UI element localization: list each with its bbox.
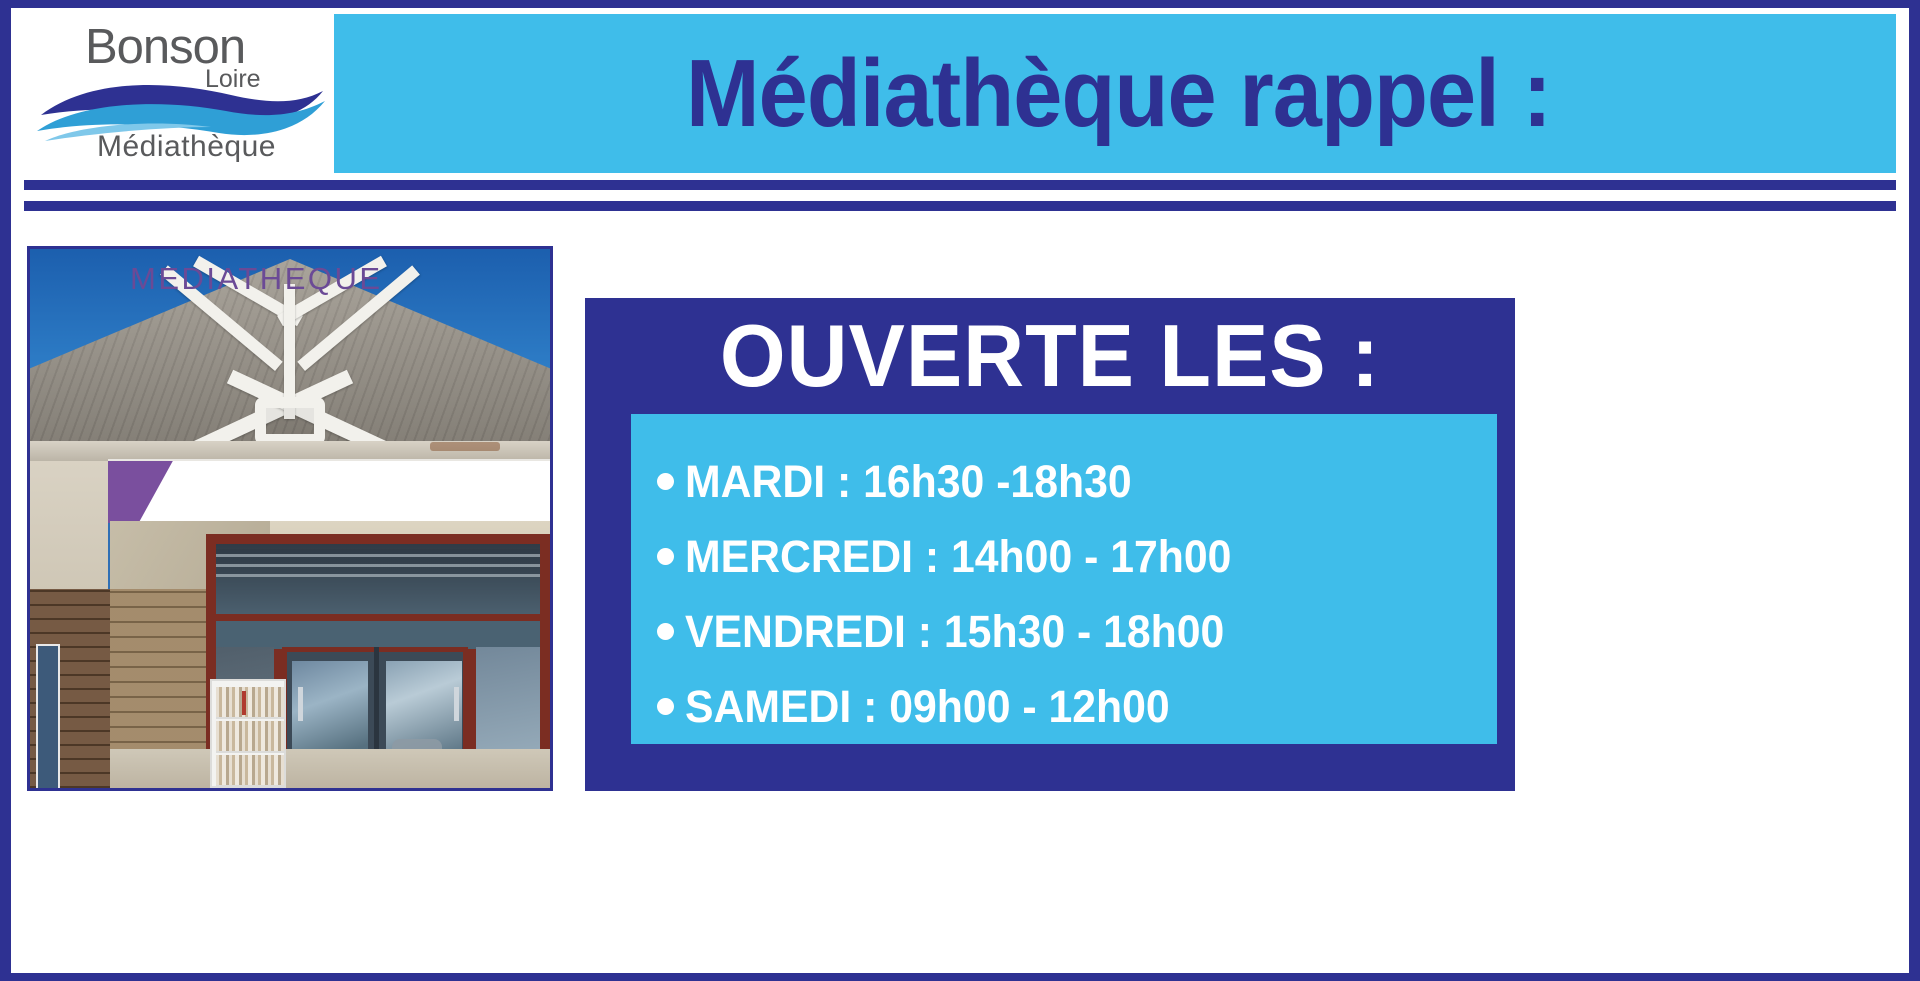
list-item: MARDI : 16h30 -18h30	[657, 444, 1497, 519]
photo-ground	[110, 749, 550, 788]
list-item: VENDREDI : 15h30 - 18h00	[657, 594, 1497, 669]
page-title: Médiathèque rappel :	[403, 14, 1834, 173]
list-item: MERCREDI : 14h00 - 17h00	[657, 519, 1497, 594]
poster-frame: Bonson Loire Médiathèque Médiathèque rap…	[0, 0, 1920, 981]
photo-bookshelf-book	[242, 691, 246, 715]
schedule-text: SAMEDI : 09h00 - 12h00	[685, 681, 1170, 733]
logo-inner: Bonson Loire Médiathèque	[25, 15, 334, 173]
photo-door-handle-right	[454, 687, 459, 721]
bullet-icon	[657, 548, 674, 565]
schedule-text: VENDREDI : 15h30 - 18h00	[685, 606, 1224, 658]
schedule-list: MARDI : 16h30 -18h30 MERCREDI : 14h00 - …	[631, 414, 1497, 744]
poster-inner: Bonson Loire Médiathèque Médiathèque rap…	[11, 8, 1909, 973]
photo-roof-hexagon	[255, 397, 325, 445]
bullet-icon	[657, 473, 674, 490]
schedule-text: MARDI : 16h30 -18h30	[685, 456, 1132, 508]
photo-entrance-sign	[108, 459, 550, 523]
photo-wall-graffiti	[58, 719, 106, 741]
photo-bookshelf	[210, 679, 286, 788]
photo-sign-text: MEDIATHEQUE	[130, 261, 383, 297]
photo-door-handle-left	[298, 687, 303, 721]
opening-hours-panel: OUVERTE LES : MARDI : 16h30 -18h30 MERCR…	[585, 298, 1515, 791]
photo-bookshelf-row	[216, 721, 284, 753]
logo-bonson-mediatheque: Bonson Loire Médiathèque	[24, 14, 334, 173]
building-photo-image: MEDIATHEQUE	[30, 249, 550, 788]
building-photo: MEDIATHEQUE	[27, 246, 553, 791]
divider-rule-top	[24, 180, 1896, 190]
photo-wall-left	[30, 461, 108, 591]
photo-fascia-rust-stain	[430, 442, 500, 451]
bullet-icon	[657, 623, 674, 640]
photo-wall-poster	[36, 644, 60, 788]
opening-hours-heading: OUVERTE LES :	[604, 302, 1497, 410]
photo-sign-purple-corner	[108, 461, 198, 523]
logo-text-mediatheque: Médiathèque	[97, 132, 276, 162]
divider-rule-bottom	[24, 201, 1896, 211]
bullet-icon	[657, 698, 674, 715]
photo-bookshelf-row	[216, 755, 284, 787]
photo-bookshelf-row	[216, 687, 284, 719]
list-item: SAMEDI : 09h00 - 12h00	[657, 669, 1497, 744]
photo-transom-slats	[216, 549, 540, 577]
schedule-text: MERCREDI : 14h00 - 17h00	[685, 531, 1231, 583]
